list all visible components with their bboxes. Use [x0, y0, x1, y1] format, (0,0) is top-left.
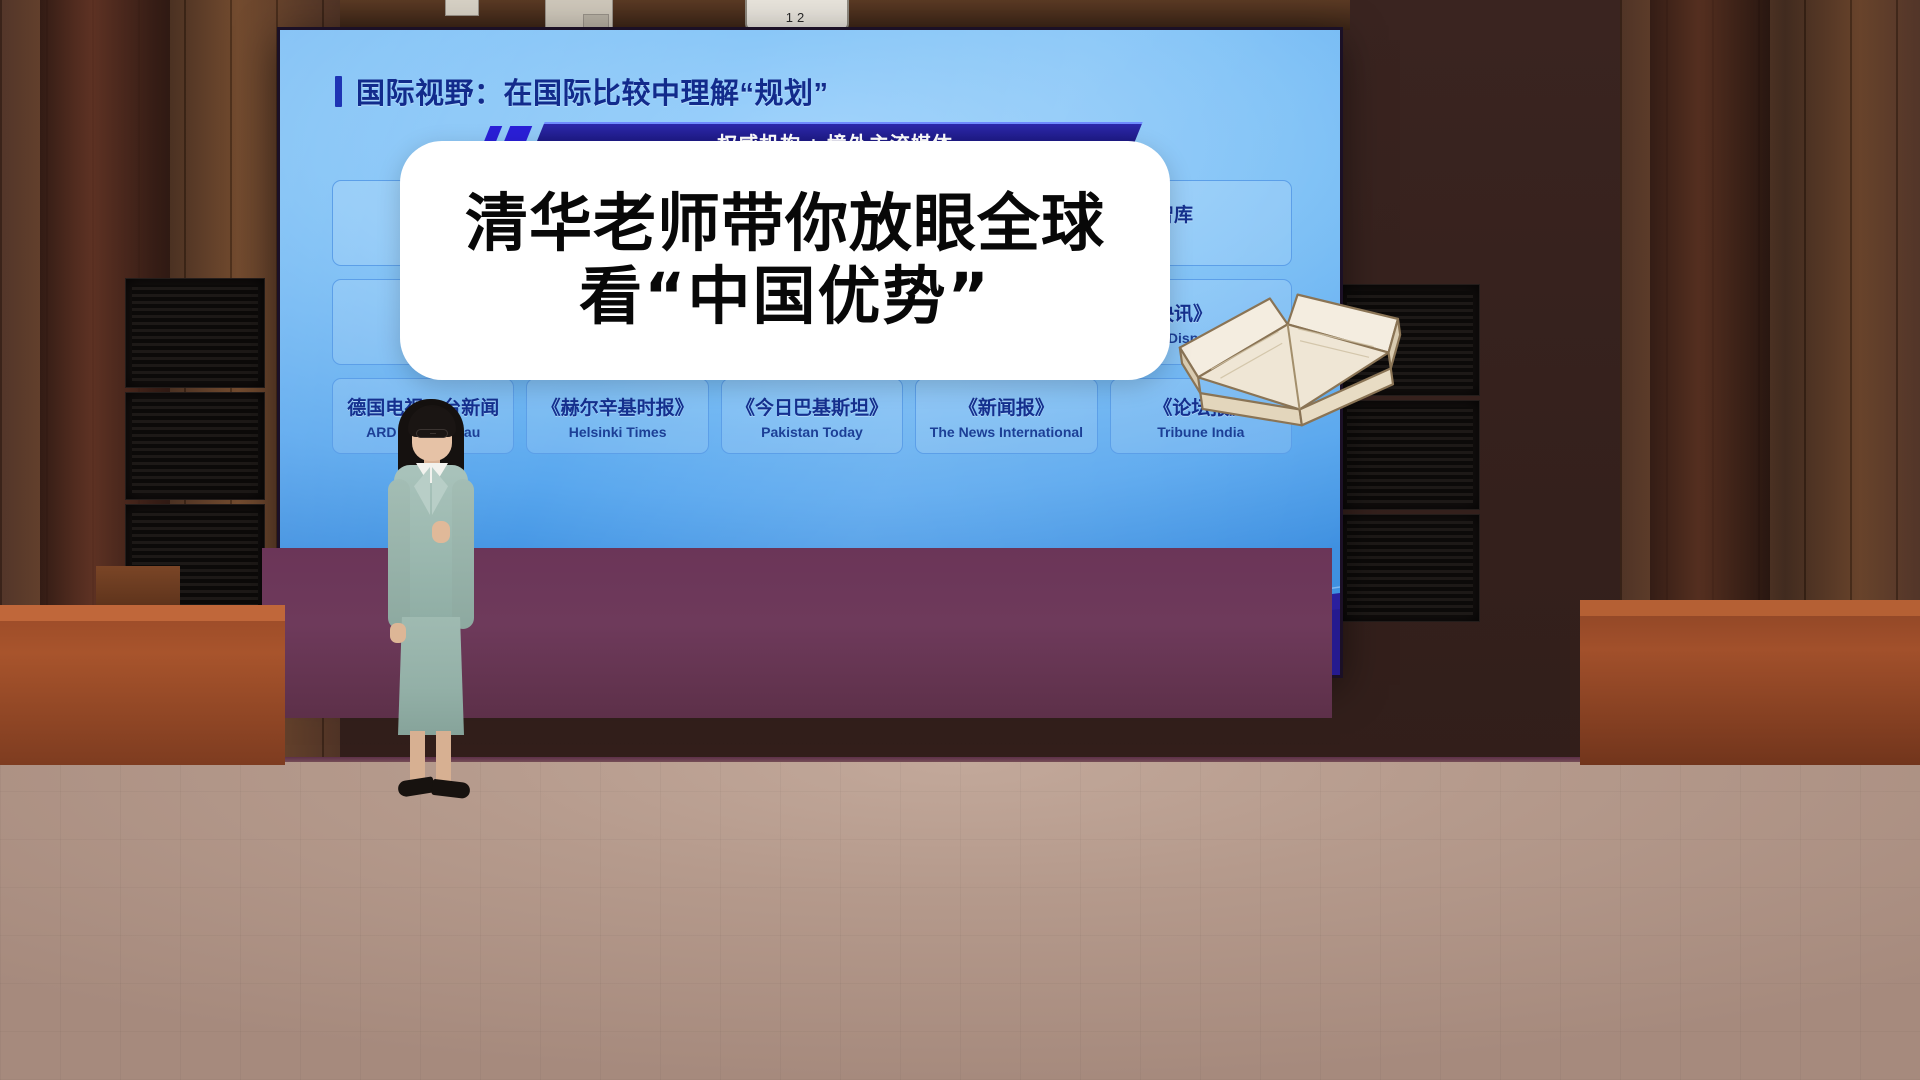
presenter-shoe-right	[431, 779, 471, 800]
media-cell: 《新闻报》 The News International	[915, 378, 1097, 454]
media-cell: 《赫尔辛基时报》 Helsinki Times	[526, 378, 708, 454]
presenter-arm-right	[452, 479, 474, 629]
presenter-shoe-left	[397, 776, 435, 797]
presenter-hand-right	[432, 521, 450, 543]
presenter-hand-left	[390, 623, 406, 643]
media-name-en: The News International	[930, 424, 1083, 440]
presenter	[370, 395, 490, 805]
open-book-icon	[1165, 264, 1421, 460]
presenter-skirt	[398, 617, 464, 735]
presenter-leg-left	[410, 731, 425, 783]
caption-line-1: 清华老师带你放眼全球	[465, 189, 1105, 260]
title-accent-bar	[335, 76, 342, 107]
media-cell: 《今日巴基斯坦》 Pakistan Today	[721, 378, 903, 454]
slide-title: 国际视野：在国际比较中理解“规划”	[335, 70, 829, 112]
podium-left	[0, 605, 285, 765]
lecture-hall-scene: 12 国际视野：在国际比较中理解“规划” 权威机构 + 境外主流媒体	[0, 0, 1920, 1080]
media-name-en: Helsinki Times	[569, 424, 667, 440]
media-name-en: Pakistan Today	[761, 424, 863, 440]
stage-floor	[0, 762, 1920, 1080]
media-name-cn: 《今日巴基斯坦》	[736, 393, 888, 420]
slide-title-text: 国际视野：在国际比较中理解“规划”	[356, 70, 829, 112]
presenter-glasses	[416, 429, 448, 438]
media-name-cn: 《赫尔辛基时报》	[542, 393, 694, 420]
ceiling-fixture-1	[445, 0, 479, 16]
presenter-leg-right	[436, 731, 451, 783]
speaker-cabinet-right-bottom	[1340, 514, 1480, 622]
presenter-arm-left	[388, 479, 410, 629]
podium-right	[1580, 600, 1920, 765]
wall-clock: 12	[745, 0, 849, 30]
media-name-cn: 《新闻报》	[959, 393, 1054, 420]
speaker-cabinet-left-mid	[125, 392, 265, 500]
caption-card: 清华老师带你放眼全球 看“中国优势”	[400, 141, 1170, 380]
caption-line-2: 看“中国优势”	[579, 262, 991, 333]
speaker-cabinet-left-top	[125, 278, 265, 388]
right-curtain	[1650, 0, 1770, 640]
